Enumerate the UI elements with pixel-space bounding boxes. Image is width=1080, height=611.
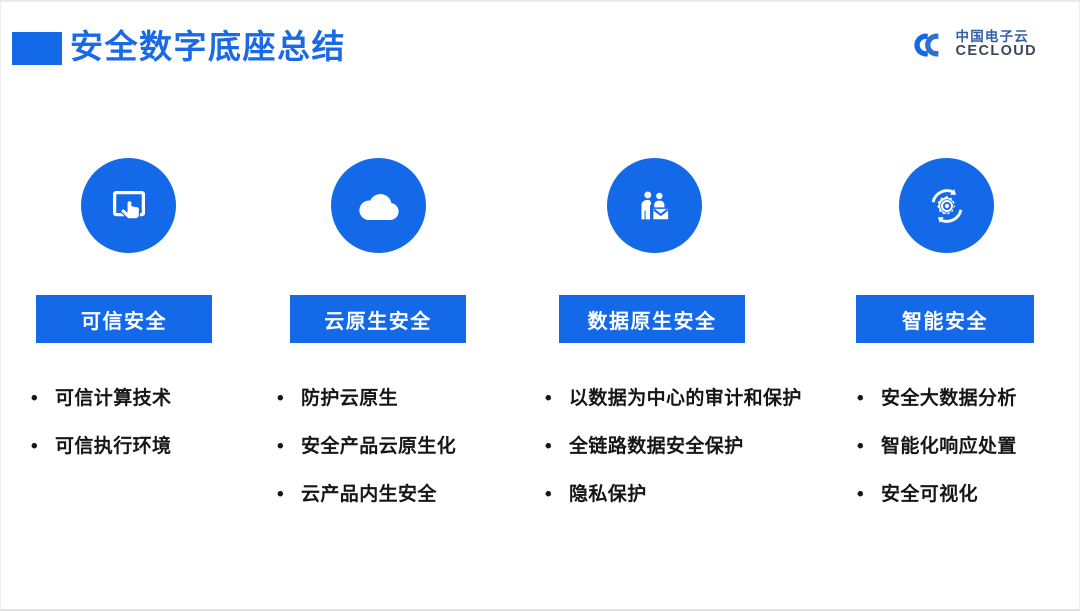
logo-chinese-name: 中国电子云 <box>956 30 1038 44</box>
bullet-dot-icon: • <box>277 387 301 411</box>
logo-wordmark: 中国电子云 CECLOUD <box>956 30 1038 59</box>
list-item: • 云产品内生安全 <box>269 483 537 507</box>
brand-logo: 中国电子云 CECLOUD <box>913 30 1038 59</box>
pillar-icon-circle <box>607 158 702 253</box>
list-item: • 防护云原生 <box>269 387 537 411</box>
pillar-label: 数据原生安全 <box>559 295 745 343</box>
bullet-text: 可信计算技术 <box>55 387 171 411</box>
bullet-text: 智能化响应处置 <box>881 435 1017 459</box>
bullet-dot-icon: • <box>545 387 569 411</box>
bullet-dot-icon: • <box>545 483 569 507</box>
bullet-dot-icon: • <box>857 435 881 459</box>
pillar-icon-circle <box>331 158 426 253</box>
bullet-text: 云产品内生安全 <box>301 483 437 507</box>
list-item: • 全链路数据安全保护 <box>537 435 847 459</box>
list-item: • 智能化响应处置 <box>847 435 1073 459</box>
bullet-text: 隐私保护 <box>569 483 647 507</box>
title-accent-bar <box>12 32 62 65</box>
list-item: • 安全产品云原生化 <box>269 435 537 459</box>
list-item: • 安全可视化 <box>847 483 1073 507</box>
bullet-text: 可信执行环境 <box>55 435 171 459</box>
pillar-label: 智能安全 <box>856 295 1034 343</box>
pillar-bullet-list: • 防护云原生 • 安全产品云原生化 • 云产品内生安全 <box>269 387 537 531</box>
bullet-text: 以数据为中心的审计和保护 <box>569 387 802 411</box>
pillar-bullet-list: • 可信计算技术 • 可信执行环境 <box>19 387 269 483</box>
bullet-dot-icon: • <box>545 435 569 459</box>
cloud-icon <box>355 189 403 223</box>
pillar-icon-circle <box>899 158 994 253</box>
bullet-text: 防护云原生 <box>301 387 398 411</box>
cc-logo-mark-icon <box>913 32 947 58</box>
pillar-label: 可信安全 <box>36 295 212 343</box>
bullet-dot-icon: • <box>277 483 301 507</box>
list-item: • 可信执行环境 <box>19 435 269 459</box>
list-item: • 以数据为中心的审计和保护 <box>537 387 847 411</box>
people-mail-icon <box>632 183 678 229</box>
slide-header: 安全数字底座总结 中国电子云 CECLOUD <box>1 2 1080 94</box>
bullet-text: 安全大数据分析 <box>881 387 1017 411</box>
pillar-bullet-list: • 安全大数据分析 • 智能化响应处置 • 安全可视化 <box>847 387 1073 531</box>
page-title: 安全数字底座总结 <box>70 24 346 70</box>
pillar-label: 云原生安全 <box>290 295 466 343</box>
touch-screen-icon <box>106 183 152 229</box>
list-item: • 隐私保护 <box>537 483 847 507</box>
bullet-dot-icon: • <box>857 483 881 507</box>
slide-root: 安全数字底座总结 中国电子云 CECLOUD <box>0 0 1080 611</box>
pillar-bullet-list: • 以数据为中心的审计和保护 • 全链路数据安全保护 • 隐私保护 <box>537 387 847 531</box>
logo-english-name: CECLOUD <box>956 44 1038 59</box>
bullet-text: 全链路数据安全保护 <box>569 435 744 459</box>
bullet-text: 安全产品云原生化 <box>301 435 456 459</box>
pillar-icon-circle <box>81 158 176 253</box>
pillars-row: 可信安全 • 可信计算技术 • 可信执行环境 <box>1 142 1080 562</box>
bullet-dot-icon: • <box>31 387 55 411</box>
list-item: • 可信计算技术 <box>19 387 269 411</box>
bullet-dot-icon: • <box>31 435 55 459</box>
bullet-dot-icon: • <box>277 435 301 459</box>
gear-refresh-icon <box>924 183 970 229</box>
bullet-text: 安全可视化 <box>881 483 978 507</box>
list-item: • 安全大数据分析 <box>847 387 1073 411</box>
bullet-dot-icon: • <box>857 387 881 411</box>
